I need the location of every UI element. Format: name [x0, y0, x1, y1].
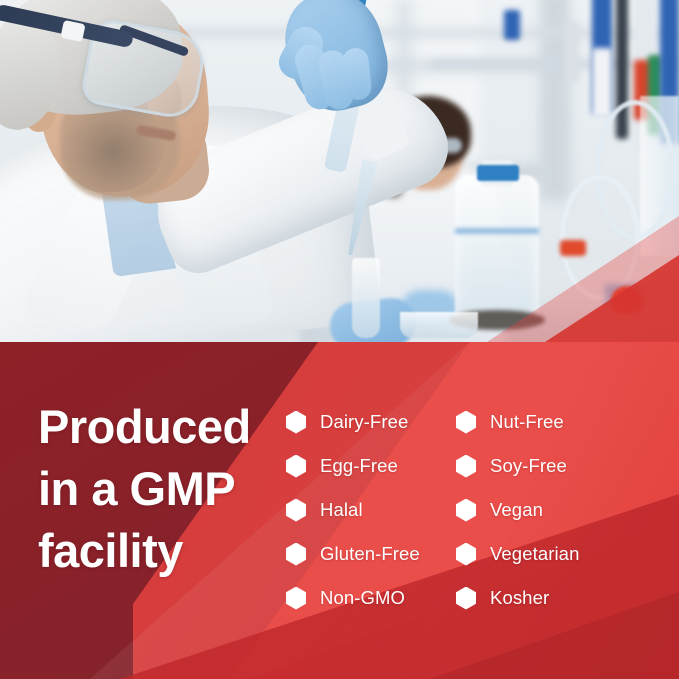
claim-item-gluten-free: Gluten-Free	[286, 532, 456, 576]
hexagon-bullet-icon	[456, 499, 476, 522]
headline-line-2: in a GMP	[38, 458, 288, 520]
headline-line-1: Produced	[38, 396, 288, 458]
claim-item-kosher: Kosher	[456, 576, 626, 620]
hexagon-bullet-icon	[286, 543, 306, 566]
claim-label: Gluten-Free	[320, 543, 420, 565]
hexagon-bullet-icon	[286, 587, 306, 610]
reagent-flask	[455, 175, 539, 325]
claim-item-vegetarian: Vegetarian	[456, 532, 626, 576]
reagent-bottle-label	[592, 48, 612, 118]
claim-label: Soy-Free	[490, 455, 567, 477]
test-tube	[352, 258, 380, 338]
claim-item-nut-free: Nut-Free	[456, 400, 626, 444]
claim-item-egg-free: Egg-Free	[286, 444, 456, 488]
reagent-bottle-icon	[565, 22, 579, 82]
claim-item-dairy-free: Dairy-Free	[286, 400, 456, 444]
hexagon-bullet-icon	[456, 411, 476, 434]
claim-label: Egg-Free	[320, 455, 398, 477]
claim-label: Kosher	[490, 587, 549, 609]
claims-list: Dairy-Free Nut-Free Egg-Free Soy-Free Ha…	[286, 400, 666, 620]
hexagon-bullet-icon	[286, 455, 306, 478]
claim-label: Non-GMO	[320, 587, 405, 609]
claim-label: Halal	[320, 499, 363, 521]
product-infographic-banner: Produced in a GMP facility Dairy-Free Nu…	[0, 0, 679, 679]
hexagon-bullet-icon	[456, 543, 476, 566]
claim-label: Vegetarian	[490, 543, 579, 565]
claim-item-halal: Halal	[286, 488, 456, 532]
hexagon-bullet-icon	[456, 587, 476, 610]
page-title: Produced in a GMP facility	[38, 396, 288, 582]
claims-panel: Produced in a GMP facility Dairy-Free Nu…	[0, 342, 679, 679]
claim-label: Nut-Free	[490, 411, 564, 433]
hexagon-bullet-icon	[456, 455, 476, 478]
petri-dish	[400, 312, 478, 338]
laboratory-photo	[0, 0, 679, 342]
claim-label: Vegan	[490, 499, 543, 521]
flask-cap	[477, 165, 519, 181]
claim-item-vegan: Vegan	[456, 488, 626, 532]
claim-item-soy-free: Soy-Free	[456, 444, 626, 488]
claim-item-non-gmo: Non-GMO	[286, 576, 456, 620]
hexagon-bullet-icon	[286, 499, 306, 522]
hexagon-bullet-icon	[286, 411, 306, 434]
apparatus-clamp	[560, 240, 586, 256]
headline-line-3: facility	[38, 520, 288, 582]
reagent-bottle-icon	[504, 10, 520, 40]
claim-label: Dairy-Free	[320, 411, 408, 433]
flask-liquid-line	[455, 228, 539, 234]
